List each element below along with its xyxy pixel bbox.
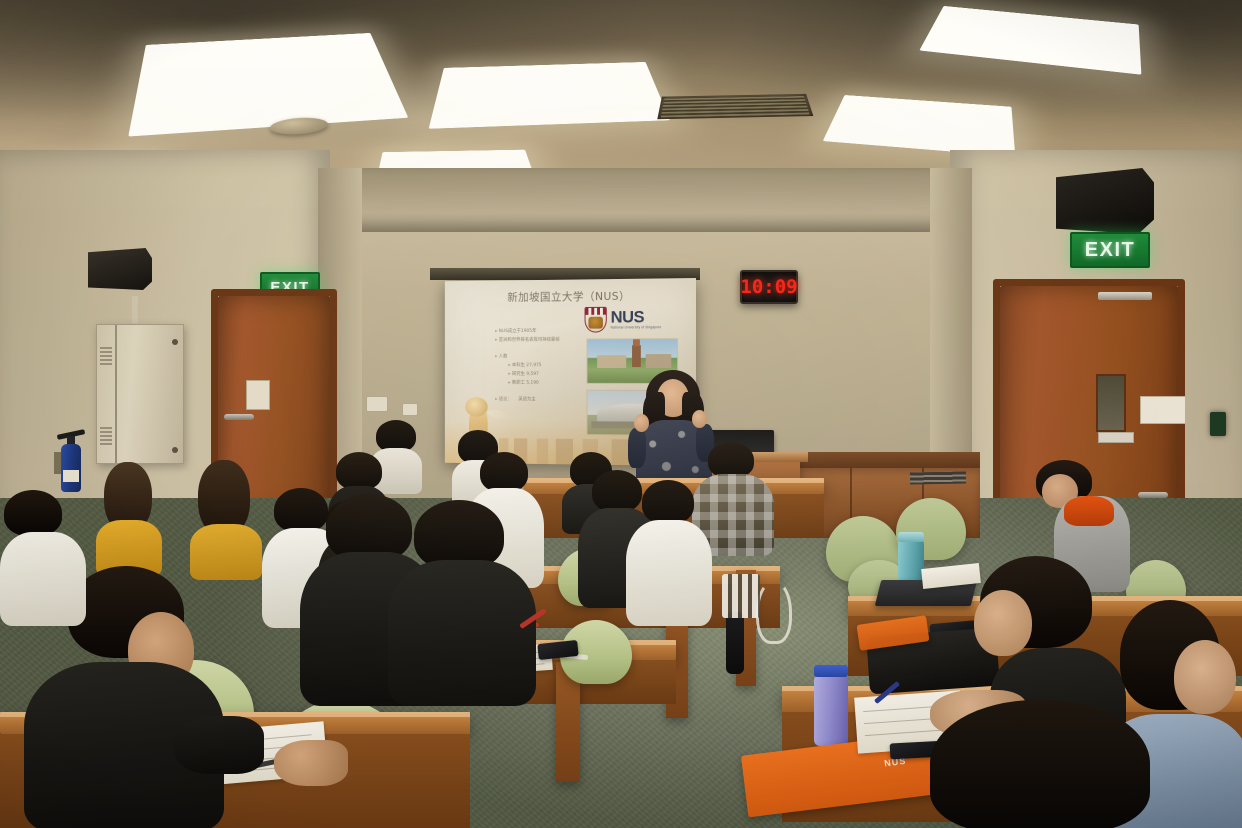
exit-sign-label: EXIT <box>270 279 309 296</box>
ceiling-light-panel <box>429 62 670 129</box>
ceiling-soffit <box>318 168 978 232</box>
exit-sign-label: EXIT <box>1085 239 1135 262</box>
exit-sign-right: EXIT <box>1070 232 1150 268</box>
student <box>190 460 262 572</box>
student-foreground-right <box>930 700 1180 828</box>
hand <box>274 740 348 786</box>
wall-conduit <box>132 296 138 326</box>
wall-socket-icon <box>366 396 388 412</box>
card-reader-icon[interactable] <box>1210 412 1226 436</box>
slide-title: 新加坡国立大学（NUS） <box>445 287 696 305</box>
umbrella <box>726 612 744 674</box>
classroom-photo-scene: EXIT EXIT 新加坡国立大学（NUS） NUS成立于1905年 亚洲和世界… <box>0 0 1242 828</box>
hood <box>1064 496 1114 526</box>
water-bottle[interactable] <box>814 676 848 746</box>
nus-shield-icon <box>585 307 607 333</box>
door-sign-plate <box>1098 432 1134 443</box>
fire-extinguisher-icon <box>58 430 84 492</box>
clock-time: 10:09 <box>740 276 797 298</box>
digital-wall-clock: 10:09 <box>740 270 798 304</box>
nus-logo: NUS National University of Singapore <box>585 306 687 333</box>
door-handle-icon[interactable] <box>224 414 254 420</box>
shelf-items <box>910 472 966 485</box>
door-closer-icon <box>1098 292 1152 300</box>
door-sign-left <box>246 380 270 410</box>
student <box>0 490 86 620</box>
nus-wordmark: NUS <box>611 309 662 326</box>
wall-speaker-icon <box>88 248 152 290</box>
student <box>626 480 712 620</box>
wall-socket-icon <box>402 403 418 416</box>
hanging-cloth <box>722 574 760 618</box>
cable-loop <box>756 580 792 644</box>
wall-speaker-icon <box>1056 168 1154 234</box>
student <box>388 500 536 700</box>
electrical-cabinet <box>96 324 184 464</box>
ceiling-air-vent-icon <box>657 94 813 119</box>
presenter-hand <box>692 410 707 428</box>
wall-notice-sign <box>1140 396 1186 424</box>
presenter-hand <box>634 414 649 432</box>
nus-logo-subtitle: National University of Singapore <box>611 327 662 330</box>
door-vision-panel <box>1096 374 1126 432</box>
student <box>96 462 162 570</box>
